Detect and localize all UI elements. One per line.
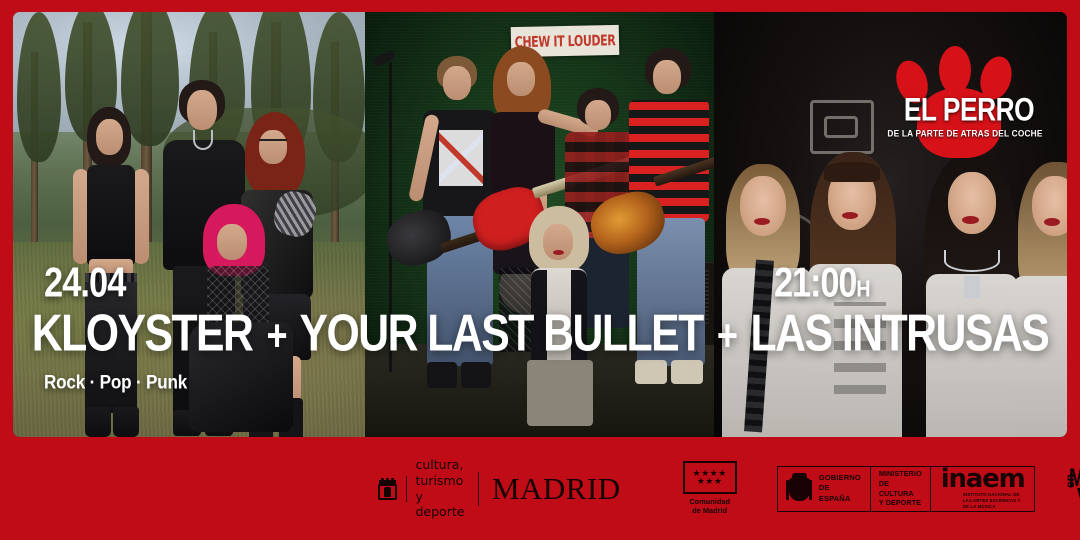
logo-comunidad-de-madrid: ★★★★ ★★★ Comunidad de Madrid [683, 461, 737, 516]
madrid-en-vivo-line-2: en [1064, 473, 1076, 487]
inaem-cell: inaem INSTITUTO NACIONAL DE LAS ARTES ES… [931, 467, 1035, 511]
stars-row-2: ★★★ [693, 478, 727, 485]
face [187, 90, 217, 130]
genre-tags: Rock · Pop · Punk [44, 371, 187, 394]
event-date: 24.04 [44, 262, 125, 303]
inaem-subtitle-line-2: LAS ARTES ESCÉNICAS Y DE LA MÚSICA [963, 498, 1025, 509]
bear-tree-icon [384, 487, 391, 497]
inaem-subtitle: INSTITUTO NACIONAL DE LAS ARTES ESCÉNICA… [963, 492, 1025, 509]
escudo-espana-icon [786, 473, 812, 505]
divider [478, 472, 479, 506]
comunidad-line-2: de Madrid [683, 507, 737, 516]
department-line-1: cultura, turismo [416, 457, 466, 488]
face [1032, 176, 1067, 236]
pants [527, 360, 593, 426]
sponsor-logo-bar: cultura, turismo y deporte MADRID ★★★★ ★… [0, 437, 1080, 540]
necklace-chain [944, 250, 1000, 272]
union-jack-print [439, 130, 483, 186]
ministerio-cell: MINISTERIO DE CULTURA Y DEPORTE [871, 467, 931, 511]
lineup-headline: KLOYSTER + YOUR LAST BULLET + LAS INTRUS… [27, 306, 1053, 358]
arm [133, 169, 149, 264]
face [507, 62, 535, 96]
ministerio-line-3: Y DEPORTE [879, 498, 922, 508]
lips [553, 250, 564, 255]
madrid-crest-icon [378, 478, 397, 500]
lips [1044, 218, 1060, 226]
face [740, 176, 786, 236]
shoe [427, 362, 457, 388]
logo-madrid-city: cultura, turismo y deporte MADRID [378, 457, 621, 520]
pillar-icon [786, 480, 789, 500]
face [259, 130, 287, 164]
stars-group: ★★★★ ★★★ [693, 470, 727, 485]
gobierno-line-2: DE ESPAÑA [819, 483, 862, 504]
event-time: 21:00H [774, 262, 871, 303]
madrid-wordmark: MADRID [492, 471, 621, 507]
necklace [193, 130, 213, 150]
venue-name: EL PERRO [894, 94, 1044, 126]
madrid-department-label: cultura, turismo y deporte [416, 457, 466, 520]
inaem-subtitle-line-1: INSTITUTO NACIONAL DE [963, 492, 1025, 498]
face [948, 172, 996, 234]
logo-madrid-en-vivo: MADRID en VIVO [1063, 466, 1080, 512]
event-time-unit: H [856, 277, 870, 303]
comunidad-label: Comunidad de Madrid [683, 498, 737, 516]
paw-pad-toe [939, 46, 971, 94]
face [217, 224, 247, 260]
band-name-2: YOUR LAST BULLET [300, 303, 703, 362]
ministerio-line-1: MINISTERIO [879, 469, 922, 479]
ministerio-label: MINISTERIO DE CULTURA Y DEPORTE [879, 469, 922, 508]
divider [406, 476, 407, 502]
shoe [635, 360, 667, 384]
shoe [461, 362, 491, 388]
photo-panel-your-last-bullet: CHEW IT LOUDER [365, 12, 714, 437]
bangs [824, 162, 880, 182]
face [585, 100, 611, 130]
ministerio-line-2: DE CULTURA [879, 479, 922, 498]
band-name-3: LAS INTRUSAS [751, 303, 1049, 362]
event-time-value: 21:00 [774, 260, 856, 306]
face [653, 60, 681, 94]
boot [113, 407, 139, 437]
logo-gobierno-de-espana: GOBIERNO DE ESPAÑA MINISTERIO DE CULTURA… [777, 466, 1036, 512]
gobierno-line-1: GOBIERNO [819, 473, 862, 483]
shield-icon [789, 478, 810, 501]
lips [842, 212, 858, 219]
lips [962, 216, 979, 224]
department-line-2: y deporte [416, 489, 466, 520]
inaem-logo: inaem INSTITUTO NACIONAL DE LAS ARTES ES… [941, 468, 1025, 510]
band-member [1012, 162, 1067, 437]
comunidad-flag-icon: ★★★★ ★★★ [683, 461, 737, 494]
pillar-icon [809, 480, 812, 500]
band-name-1: KLOYSTER [32, 303, 253, 362]
lineup-separator: + [263, 312, 290, 361]
inaem-wordmark: inaem [941, 468, 1025, 491]
gobierno-cell: GOBIERNO DE ESPAÑA [778, 467, 871, 511]
venue-subtitle: DE LA PARTE DE ATRAS DEL COCHE [881, 128, 1049, 139]
torso [87, 165, 135, 265]
shoe [671, 360, 703, 384]
face [96, 119, 123, 155]
wall-graffiti [824, 116, 858, 138]
glasses [259, 139, 287, 146]
photo-panel-las-intrusas: EL PERRO DE LA PARTE DE ATRAS DEL COCHE [714, 12, 1067, 437]
boot [85, 407, 111, 437]
venue-logo-el-perro: EL PERRO DE LA PARTE DE ATRAS DEL COCHE [881, 44, 1049, 162]
band-member [922, 154, 1026, 437]
lips [754, 218, 770, 225]
face [443, 66, 471, 100]
lineup-separator: + [713, 312, 740, 361]
gobierno-label: GOBIERNO DE ESPAÑA [819, 473, 862, 504]
